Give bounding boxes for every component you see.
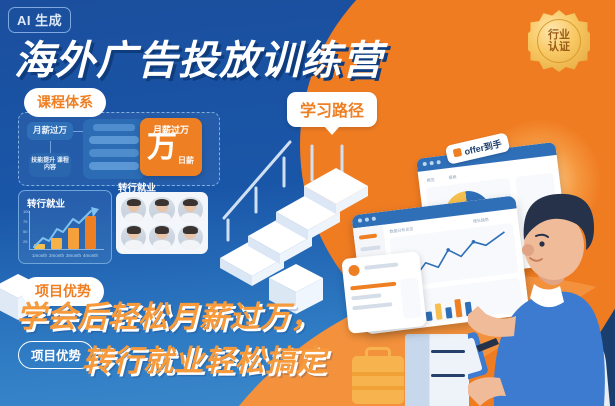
diagram-center-row-1 [89,136,139,144]
suitcase-illustration [352,356,404,404]
promo-banner: AI 生成 行业 认证 海外广告投放训练营 课程体系 月薪过万 技能提升 课程内… [0,0,615,406]
diagram-center-card [83,119,145,179]
certification-badge: 行业 认证 [528,10,590,72]
mini-bar [435,303,443,320]
tertiary-row [351,293,381,300]
salary-highlight-card: 月薪过万 万 日薪 [140,118,202,176]
window-dot [429,161,433,165]
mini-bar [445,307,452,319]
salary-card-big-character: 万 [147,133,177,163]
diagram-connector-v [50,141,51,153]
diagram-node-left: 月薪过万 [27,122,73,140]
avatar [121,197,146,222]
badge-line-2: 认证 [548,41,570,53]
check-icon [348,264,360,276]
cabinet-handle-1 [431,350,466,353]
suitcase-handle [365,347,391,361]
window-dot [365,217,369,221]
page-title: 海外广告投放训练营 [14,28,383,86]
student-avatar-grid [116,192,208,254]
employment-chart-card: 转行就业 100 75 50 25 1month 2month 3month 4… [18,190,112,264]
window-dot [436,160,440,164]
person-illustration [468,140,615,406]
filing-cabinet [405,334,469,406]
diagram-connector-h1 [73,131,83,132]
avatar [178,197,203,222]
sidebar-item[interactable] [360,245,380,251]
sidebar-item[interactable] [359,234,377,240]
tertiary-row [352,302,392,310]
chart-trend-arrow [29,205,105,251]
offer-icon [453,148,463,158]
avatar-card-title: 转行就业 [118,180,156,194]
tertiary-row [350,282,396,291]
badge-line-1: 行业 [548,29,570,41]
diagram-center-header [93,124,135,131]
avatar [121,225,146,250]
chart-xtick: 4month [83,253,97,258]
avatar [178,225,203,250]
diagram-node-left-sub: 技能提升 课程内容 [29,153,71,177]
ai-generated-tag: AI 生成 [8,7,71,33]
mini-bar [426,311,433,321]
diagram-center-row-3 [89,162,139,170]
diagram-center-row-2 [89,149,139,157]
chart-ytick-2: 50 [23,229,27,234]
chart-xtick: 2month [49,253,63,258]
course-system-pill: 课程体系 [24,88,106,117]
screen-nav-label: 报表 [448,174,457,181]
badge-inner: 行业 认证 [537,19,581,63]
window-dot [423,162,427,166]
chart-xtick: 1month [32,253,46,258]
suitcase-band-2 [352,386,404,390]
mini-bar [454,299,462,318]
learning-path-callout: 学习路径 [287,92,377,127]
avatar [149,197,174,222]
cabinet-handle-2 [431,374,466,377]
chart-ytick-1: 75 [23,219,27,224]
window-dot [372,217,376,221]
kpi-label: 数据分析总览 [389,226,414,235]
window-dot [358,218,362,222]
avatar [149,225,174,250]
slogan-line-2: 转行就业轻松搞定 [82,336,326,380]
chart-xtick: 3month [66,253,80,258]
chart-ytick-3: 25 [23,239,27,244]
tertiary-row [364,262,398,270]
suitcase-band-1 [352,372,404,376]
slogan-line-1: 学会后轻松月薪过万， [16,292,321,336]
tertiary-panel [400,277,422,319]
dashboard-screen-tertiary[interactable] [341,251,426,334]
screen-nav-label: 概览 [426,177,435,184]
label-course-system: 课程体系 [24,88,106,117]
salary-card-sub: 日薪 [178,155,194,166]
